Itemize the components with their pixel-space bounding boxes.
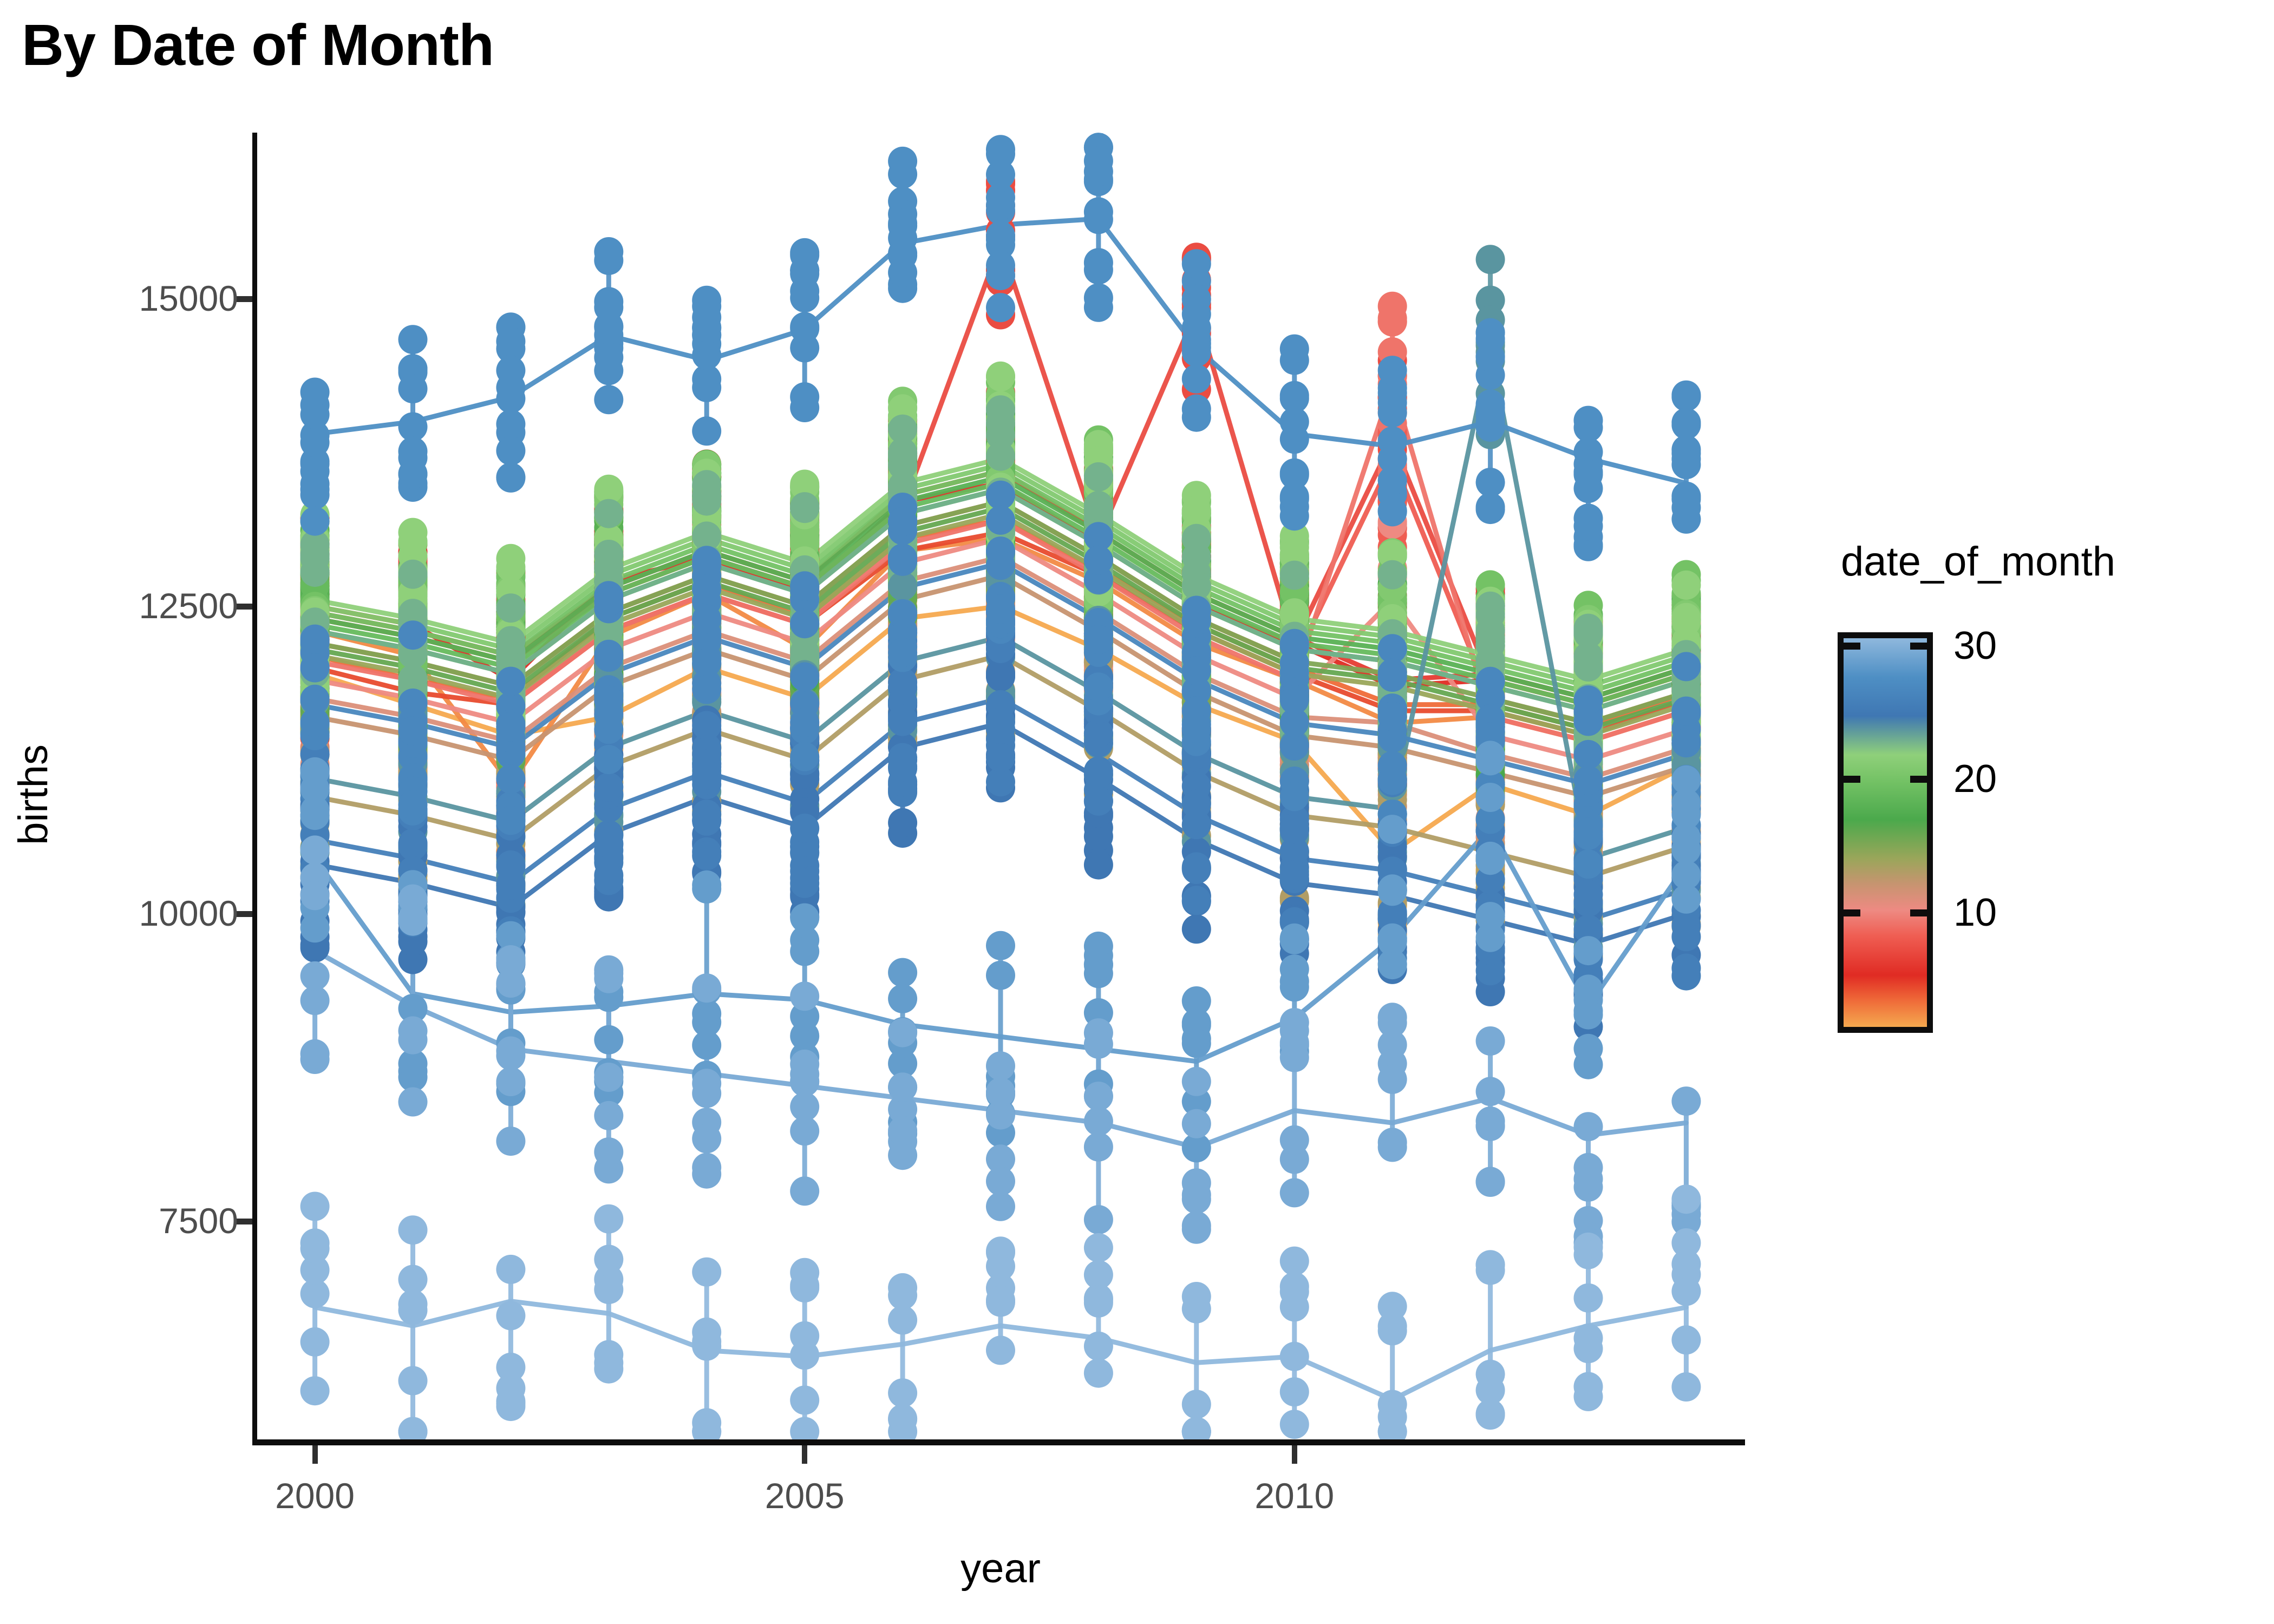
data-point [1280,561,1309,590]
data-point [986,362,1015,391]
data-point [1574,642,1603,671]
data-point [986,395,1015,424]
data-point [1476,631,1505,660]
plot-area [256,133,1745,1443]
data-point [594,499,623,528]
data-point [398,560,428,589]
data-point [496,593,525,623]
data-point [888,808,917,837]
data-point [398,527,428,556]
data-point [496,626,525,656]
data-point [790,492,819,521]
data-point [1182,914,1211,944]
data-point [1378,292,1407,321]
data-point [888,438,917,467]
data-point [1574,617,1603,646]
data-point [1084,850,1113,880]
data-point [1182,524,1211,553]
data-point [1476,245,1505,274]
data-point [692,480,721,509]
page-title: By Date of Month [22,13,494,77]
series-points-layer [300,133,1701,1443]
data-point [1671,571,1701,600]
data-point [986,442,1015,471]
chart-root: By Date of Month 7500100001250015000 200… [0,0,2274,1624]
data-point [1378,560,1407,590]
data-point [1084,462,1113,492]
data-point [300,540,330,569]
plot-panel [256,133,1745,1443]
